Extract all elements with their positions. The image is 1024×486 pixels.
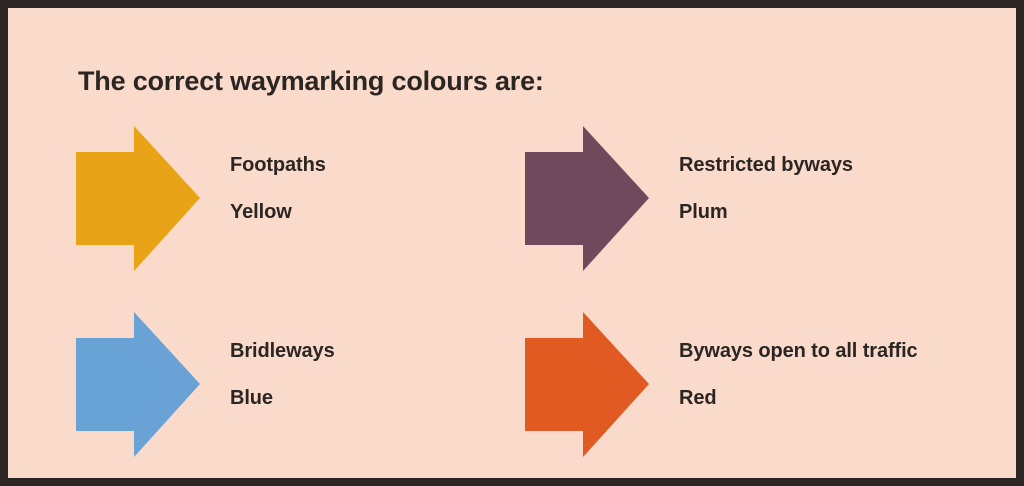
page-title: The correct waymarking colours are: [78,66,544,97]
path-type-label: Restricted byways [679,154,1009,177]
colour-name-label: Yellow [230,201,560,224]
colour-name-label: Plum [679,201,1009,224]
list-item: Byways open to all traffic Red [513,312,968,477]
waymarking-colours-poster: The correct waymarking colours are: Foot… [0,0,1024,486]
arrow-shape-1 [525,126,649,271]
waymarking-legend-grid: Footpaths Yellow Restricted byways Plum [8,126,1016,476]
list-item: Footpaths Yellow [64,126,519,291]
legend-label-group: Byways open to all traffic Red [679,340,1009,410]
path-type-label: Bridleways [230,340,560,363]
path-type-label: Footpaths [230,154,560,177]
legend-label-group: Footpaths Yellow [230,154,560,224]
right-arrow-icon [64,312,209,472]
right-arrow-icon [513,126,658,286]
list-item: Bridleways Blue [64,312,519,477]
arrow-shape-3 [525,312,649,457]
right-arrow-icon [513,312,658,472]
right-arrow-icon [64,126,209,286]
legend-label-group: Bridleways Blue [230,340,560,410]
arrow-shape-2 [76,312,200,457]
colour-name-label: Blue [230,387,560,410]
colour-name-label: Red [679,387,1009,410]
legend-label-group: Restricted byways Plum [679,154,1009,224]
path-type-label: Byways open to all traffic [679,340,1009,363]
arrow-shape-0 [76,126,200,271]
list-item: Restricted byways Plum [513,126,968,291]
